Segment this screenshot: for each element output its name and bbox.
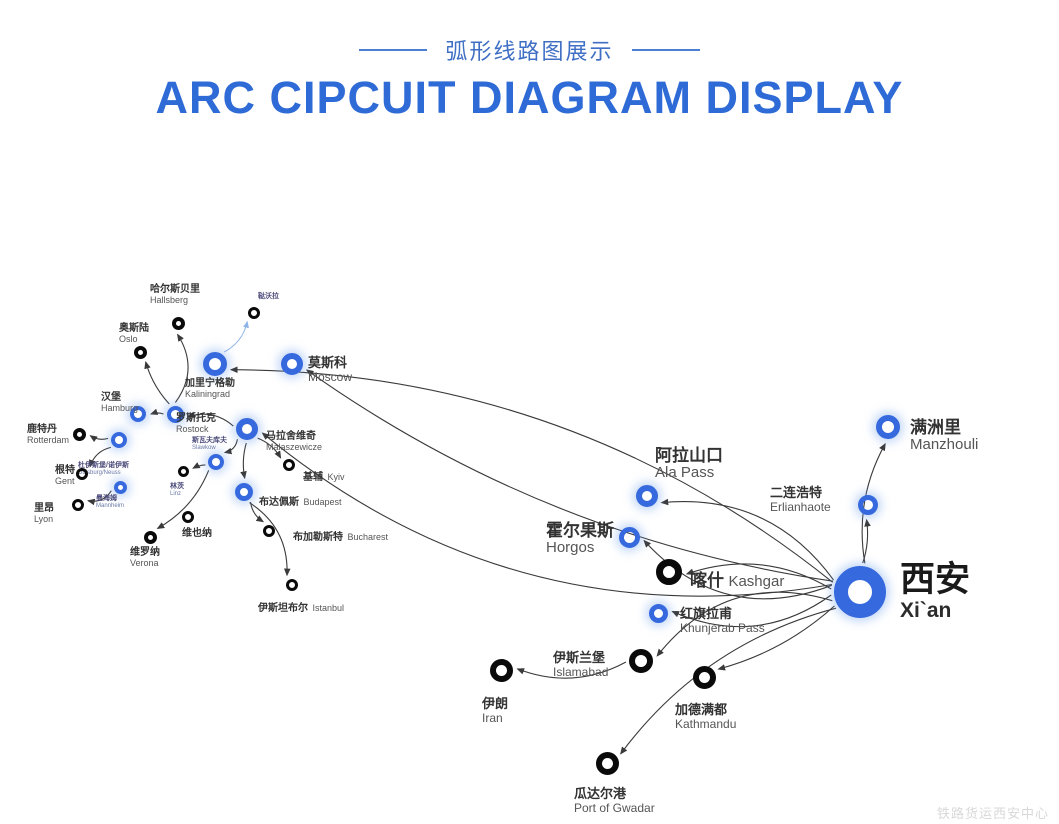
label-en-gent: Gent: [55, 476, 75, 486]
arc-slawkow-to-linz: [193, 465, 205, 468]
label-en-hallsberg: Hallsberg: [150, 295, 200, 305]
label-islamabad: 伊斯兰堡Islamabad: [553, 651, 608, 679]
label-en-mannheim: Mannheim: [96, 503, 124, 510]
label-vienna: 维也纳: [182, 528, 212, 539]
node-rotterdam[interactable]: [73, 428, 86, 441]
label-verona: 维罗纳Verona: [130, 547, 160, 568]
label-rostock: 罗斯托克Rostock: [176, 413, 216, 434]
label-en-budapest: Budapest: [303, 497, 341, 507]
label-cn-erlianhaote: 二连浩特: [770, 486, 831, 501]
node-budapest[interactable]: [235, 483, 253, 501]
label-xian: 西安Xi`an: [900, 560, 970, 623]
node-verona[interactable]: [144, 531, 157, 544]
page-header: 弧形线路图展示 ARC CIPCUIT DIAGRAM DISPLAY: [0, 0, 1059, 150]
node-alapass[interactable]: [636, 485, 658, 507]
label-cn-moscow: 莫斯科: [308, 356, 352, 371]
label-hallsberg: 哈尔斯贝里Hallsberg: [150, 284, 200, 305]
label-cn-kathmandu: 加德满都: [675, 703, 736, 718]
label-en-khunjerab: Khunjerab Pass: [680, 622, 765, 635]
label-cn-gent: 根特: [55, 465, 75, 476]
label-khunjerab: 红旗拉甫Khunjerab Pass: [680, 607, 765, 635]
arc-rostock-to-hamburg: [151, 413, 164, 414]
label-kyiv: 基辅 Kyiv: [303, 467, 344, 485]
node-bucharest[interactable]: [263, 525, 275, 537]
label-en-bucharest: Bucharest: [347, 532, 388, 542]
label-en-verona: Verona: [130, 558, 160, 568]
route-map-diagram: 西安Xi`an满洲里Manzhouli二连浩特Erlianhaote阿拉山口Al…: [0, 150, 1059, 824]
node-vienna[interactable]: [182, 511, 194, 523]
node-erlianhaote[interactable]: [858, 495, 878, 515]
watermark-text: 铁路货运西安中心: [937, 803, 1049, 822]
label-cn-gwadar: 瓜达尔港: [574, 787, 655, 802]
label-en-rotterdam: Rotterdam: [27, 435, 69, 445]
node-duisburg[interactable]: [111, 432, 127, 448]
node-moscow[interactable]: [281, 353, 303, 375]
label-en-istanbul: Istanbul: [312, 603, 344, 613]
node-oslo[interactable]: [134, 346, 147, 359]
label-cn-mannheim: 曼海姆: [96, 495, 124, 503]
label-en-kyiv: Kyiv: [327, 472, 344, 482]
label-oslo: 奥斯陆Oslo: [119, 323, 149, 344]
label-en-alapass: Ala Pass: [655, 465, 723, 482]
label-cn-malaszewicze: 马拉舍维奇: [266, 431, 322, 442]
label-cn-kyiv: 基辅: [303, 472, 323, 483]
node-hallsberg[interactable]: [172, 317, 185, 330]
arc-malaszewicze-to-budapest: [243, 443, 246, 478]
node-xian[interactable]: [834, 566, 886, 618]
label-alapass: 阿拉山口Ala Pass: [655, 446, 723, 482]
label-en-slawkow: Slawkow: [192, 445, 227, 452]
label-en-kaliningrad: Kaliningrad: [185, 389, 235, 399]
label-linz: 林茨Linz: [170, 483, 184, 498]
node-kaliningrad[interactable]: [203, 352, 227, 376]
label-cn-manzhouli: 满洲里: [910, 418, 978, 437]
label-cn-istanbul: 伊斯坦布尔: [258, 603, 308, 614]
label-cn-slawkow: 斯瓦夫库夫: [192, 437, 227, 445]
label-tavolzhan: 鞑沃拉: [258, 293, 279, 301]
arc-duisburg-to-rotterdam: [90, 436, 108, 440]
label-budapest: 布达佩斯 Budapest: [259, 492, 341, 510]
node-horgos[interactable]: [619, 527, 640, 548]
label-mannheim: 曼海姆Mannheim: [96, 495, 124, 510]
label-kashgar: 喀什 Kashgar: [690, 571, 784, 591]
label-en-kathmandu: Kathmandu: [675, 718, 736, 731]
label-en-malaszewicze: Malaszewicze: [266, 442, 322, 452]
label-en-hamburg: Hamburg: [101, 403, 138, 413]
label-en-xian: Xi`an: [900, 599, 970, 623]
label-cn-oslo: 奥斯陆: [119, 323, 149, 334]
label-gent: 根特Gent: [55, 465, 75, 486]
label-en-manzhouli: Manzhouli: [910, 437, 978, 454]
label-cn-tavolzhan: 鞑沃拉: [258, 293, 279, 301]
label-kathmandu: 加德满都Kathmandu: [675, 703, 736, 731]
label-cn-rostock: 罗斯托克: [176, 413, 216, 424]
rule-right-decoration: [632, 49, 700, 51]
label-cn-kaliningrad: 加里宁格勒: [185, 378, 235, 389]
label-gwadar: 瓜达尔港Port of Gwadar: [574, 787, 655, 815]
label-en-erlianhaote: Erlianhaote: [770, 501, 831, 514]
arc-circuit-diagram-page: { "header": { "subtitle": "弧形线路图展示", "ti…: [0, 0, 1059, 824]
node-malaszewicze[interactable]: [236, 418, 258, 440]
arc-kaliningrad-to-tavolzhan: [224, 322, 247, 352]
label-en-rostock: Rostock: [176, 424, 216, 434]
node-kashgar[interactable]: [656, 559, 682, 585]
label-cn-linz: 林茨: [170, 483, 184, 491]
node-iran[interactable]: [490, 659, 513, 682]
label-cn-iran: 伊朗: [482, 697, 508, 712]
label-cn-xian: 西安: [900, 560, 970, 599]
label-cn-verona: 维罗纳: [130, 547, 160, 558]
page-title: ARC CIPCUIT DIAGRAM DISPLAY: [0, 72, 1059, 124]
label-moscow: 莫斯科Moscow: [308, 356, 352, 384]
node-kyiv[interactable]: [283, 459, 295, 471]
label-en-gwadar: Port of Gwadar: [574, 802, 655, 815]
label-en-islamabad: Islamabad: [553, 666, 608, 679]
label-cn-islamabad: 伊斯兰堡: [553, 651, 608, 666]
label-erlianhaote: 二连浩特Erlianhaote: [770, 486, 831, 514]
label-istanbul: 伊斯坦布尔 Istanbul: [258, 598, 344, 616]
label-en-kashgar: Kashgar: [728, 573, 784, 590]
node-linz[interactable]: [178, 466, 189, 477]
label-horgos: 霍尔果斯Horgos: [546, 521, 614, 557]
node-mannheim[interactable]: [114, 481, 127, 494]
page-subtitle: 弧形线路图展示: [445, 34, 613, 66]
label-rotterdam: 鹿特丹Rotterdam: [27, 424, 69, 445]
label-cn-budapest: 布达佩斯: [259, 497, 299, 508]
label-en-oslo: Oslo: [119, 334, 149, 344]
node-tavolzhan[interactable]: [248, 307, 260, 319]
label-en-lyon: Lyon: [34, 514, 54, 524]
label-lyon: 里昂Lyon: [34, 503, 54, 524]
label-cn-bucharest: 布加勒斯特: [293, 532, 343, 543]
label-en-linz: Linz: [170, 491, 184, 498]
label-bucharest: 布加勒斯特 Bucharest: [293, 527, 388, 545]
node-gent[interactable]: [76, 468, 88, 480]
node-lyon[interactable]: [72, 499, 84, 511]
label-hamburg: 汉堡Hamburg: [101, 392, 138, 413]
label-cn-hallsberg: 哈尔斯贝里: [150, 284, 200, 295]
label-cn-khunjerab: 红旗拉甫: [680, 607, 765, 622]
label-cn-rotterdam: 鹿特丹: [27, 424, 69, 435]
arc-connection-layer: [0, 150, 1059, 824]
label-en-moscow: Moscow: [308, 371, 352, 384]
label-cn-kashgar: 喀什: [690, 571, 724, 590]
node-gwadar[interactable]: [596, 752, 619, 775]
label-cn-horgos: 霍尔果斯: [546, 521, 614, 540]
label-en-iran: Iran: [482, 712, 508, 725]
label-kaliningrad: 加里宁格勒Kaliningrad: [185, 378, 235, 399]
node-khunjerab[interactable]: [649, 604, 668, 623]
node-kathmandu[interactable]: [693, 666, 716, 689]
label-cn-hamburg: 汉堡: [101, 392, 138, 403]
node-slawkow[interactable]: [208, 454, 224, 470]
node-manzhouli[interactable]: [876, 415, 900, 439]
label-cn-vienna: 维也纳: [182, 528, 212, 539]
label-malaszewicze: 马拉舍维奇Malaszewicze: [266, 431, 322, 452]
label-en-horgos: Horgos: [546, 540, 614, 557]
label-manzhouli: 满洲里Manzhouli: [910, 418, 978, 454]
label-iran: 伊朗Iran: [482, 697, 508, 725]
subtitle-row: 弧形线路图展示: [0, 34, 1059, 66]
node-islamabad[interactable]: [629, 649, 653, 673]
rule-left-decoration: [359, 49, 427, 51]
arc-rostock-to-oslo: [146, 362, 170, 404]
label-cn-lyon: 里昂: [34, 503, 54, 514]
label-slawkow: 斯瓦夫库夫Slawkow: [192, 437, 227, 452]
node-istanbul[interactable]: [286, 579, 298, 591]
label-cn-alapass: 阿拉山口: [655, 446, 723, 465]
